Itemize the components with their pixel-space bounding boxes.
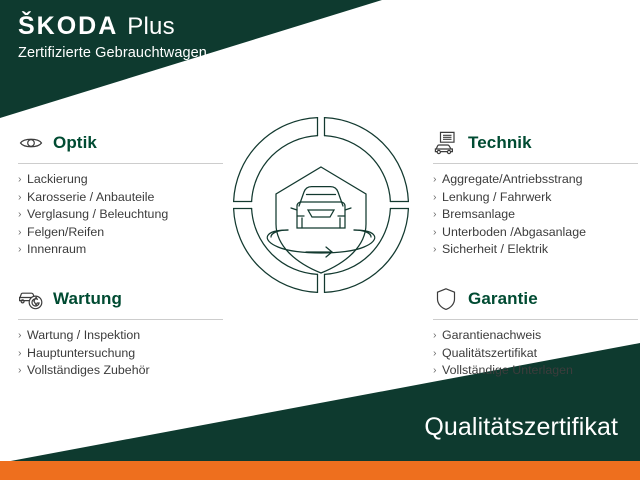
list-item-label: Innenraum bbox=[27, 242, 86, 256]
group-wartung-header: Wartung bbox=[18, 284, 223, 314]
list-item: ›Innenraum bbox=[18, 241, 223, 259]
group-technik: Technik ›Aggregate/Antriebsstrang ›Lenku… bbox=[433, 128, 638, 259]
group-technik-list: ›Aggregate/Antriebsstrang ›Lenkung / Fah… bbox=[433, 171, 638, 259]
divider bbox=[433, 319, 638, 320]
brand-lockup: ŠKODA Plus Zertifizierte Gebrauchtwagen bbox=[18, 14, 207, 61]
footer-orange-bar bbox=[0, 461, 640, 480]
list-item-label: Qualitätszertifikat bbox=[442, 346, 537, 360]
list-item: ›Hauptuntersuchung bbox=[18, 345, 223, 363]
car-front-icon bbox=[291, 187, 351, 228]
chevron-right-icon: › bbox=[433, 345, 437, 363]
list-item: ›Vollständige Unterlagen bbox=[433, 362, 638, 380]
list-item-label: Lackierung bbox=[27, 172, 88, 186]
list-item: ›Karosserie / Anbauteile bbox=[18, 189, 223, 207]
list-item-label: Verglasung / Beleuchtung bbox=[27, 207, 168, 221]
list-item-label: Sicherheit / Elektrik bbox=[442, 242, 548, 256]
document-car-icon bbox=[433, 130, 459, 156]
divider bbox=[18, 319, 223, 320]
group-garantie: Garantie ›Garantienachweis ›Qualitätszer… bbox=[433, 284, 638, 380]
list-item-label: Aggregate/Antriebsstrang bbox=[442, 172, 583, 186]
outer-ring bbox=[234, 118, 409, 293]
brand-name: ŠKODA bbox=[18, 14, 118, 39]
divider bbox=[18, 163, 223, 164]
shield-icon bbox=[433, 286, 459, 312]
group-optik-header: Optik bbox=[18, 128, 223, 158]
list-item-label: Garantienachweis bbox=[442, 328, 541, 342]
chevron-right-icon: › bbox=[433, 327, 437, 345]
group-technik-header: Technik bbox=[433, 128, 638, 158]
car-service-icon bbox=[18, 286, 44, 312]
list-item-label: Wartung / Inspektion bbox=[27, 328, 140, 342]
brand-top-row: ŠKODA Plus bbox=[18, 14, 207, 39]
chevron-right-icon: › bbox=[18, 224, 22, 242]
chevron-right-icon: › bbox=[18, 345, 22, 363]
group-wartung-list: ›Wartung / Inspektion ›Hauptuntersuchung… bbox=[18, 327, 223, 380]
list-item: ›Aggregate/Antriebsstrang bbox=[433, 171, 638, 189]
list-item-label: Vollständige Unterlagen bbox=[442, 363, 573, 377]
ring-gap-connectors bbox=[234, 118, 409, 293]
shield-outline bbox=[276, 167, 366, 273]
group-optik: Optik ›Lackierung ›Karosserie / Anbautei… bbox=[18, 128, 223, 259]
chevron-right-icon: › bbox=[18, 241, 22, 259]
list-item: ›Lackierung bbox=[18, 171, 223, 189]
chevron-right-icon: › bbox=[18, 362, 22, 380]
orbit-ellipse bbox=[267, 230, 375, 253]
chevron-right-icon: › bbox=[433, 362, 437, 380]
list-item-label: Karosserie / Anbauteile bbox=[27, 190, 154, 204]
chevron-right-icon: › bbox=[18, 327, 22, 345]
chevron-right-icon: › bbox=[433, 189, 437, 207]
list-item: ›Wartung / Inspektion bbox=[18, 327, 223, 345]
right-column: Technik ›Aggregate/Antriebsstrang ›Lenku… bbox=[433, 128, 638, 398]
certified-vehicle-emblem bbox=[228, 112, 414, 298]
certificate-page: ŠKODA Plus Zertifizierte Gebrauchtwagen … bbox=[0, 0, 640, 480]
list-item: ›Garantienachweis bbox=[433, 327, 638, 345]
chevron-right-icon: › bbox=[18, 189, 22, 207]
group-technik-title: Technik bbox=[468, 133, 532, 153]
list-item: ›Qualitätszertifikat bbox=[433, 345, 638, 363]
chevron-right-icon: › bbox=[433, 171, 437, 189]
list-item-label: Lenkung / Fahrwerk bbox=[442, 190, 552, 204]
footer-title: Qualitätszertifikat bbox=[424, 413, 618, 442]
list-item-label: Hauptuntersuchung bbox=[27, 346, 135, 360]
chevron-right-icon: › bbox=[18, 206, 22, 224]
group-garantie-header: Garantie bbox=[433, 284, 638, 314]
list-item: ›Verglasung / Beleuchtung bbox=[18, 206, 223, 224]
chevron-right-icon: › bbox=[18, 171, 22, 189]
list-item-label: Vollständiges Zubehör bbox=[27, 363, 150, 377]
left-column: Optik ›Lackierung ›Karosserie / Anbautei… bbox=[18, 128, 223, 398]
list-item-label: Unterboden /Abgasanlage bbox=[442, 225, 586, 239]
chevron-right-icon: › bbox=[433, 206, 437, 224]
list-item: ›Lenkung / Fahrwerk bbox=[433, 189, 638, 207]
group-garantie-list: ›Garantienachweis ›Qualitätszertifikat ›… bbox=[433, 327, 638, 380]
list-item-label: Bremsanlage bbox=[442, 207, 515, 221]
list-item: ›Felgen/Reifen bbox=[18, 224, 223, 242]
chevron-right-icon: › bbox=[433, 241, 437, 259]
divider bbox=[433, 163, 638, 164]
group-optik-title: Optik bbox=[53, 133, 97, 153]
orbit-arrow bbox=[306, 247, 332, 257]
list-item: ›Sicherheit / Elektrik bbox=[433, 241, 638, 259]
list-item: ›Vollständiges Zubehör bbox=[18, 362, 223, 380]
group-garantie-title: Garantie bbox=[468, 289, 538, 309]
group-wartung-title: Wartung bbox=[53, 289, 122, 309]
list-item: ›Bremsanlage bbox=[433, 206, 638, 224]
brand-plus: Plus bbox=[127, 15, 175, 39]
group-wartung: Wartung ›Wartung / Inspektion ›Hauptunte… bbox=[18, 284, 223, 380]
brand-subtitle: Zertifizierte Gebrauchtwagen bbox=[18, 45, 207, 61]
list-item: ›Unterboden /Abgasanlage bbox=[433, 224, 638, 242]
list-item-label: Felgen/Reifen bbox=[27, 225, 104, 239]
group-optik-list: ›Lackierung ›Karosserie / Anbauteile ›Ve… bbox=[18, 171, 223, 259]
chevron-right-icon: › bbox=[433, 224, 437, 242]
eye-icon bbox=[18, 130, 44, 156]
